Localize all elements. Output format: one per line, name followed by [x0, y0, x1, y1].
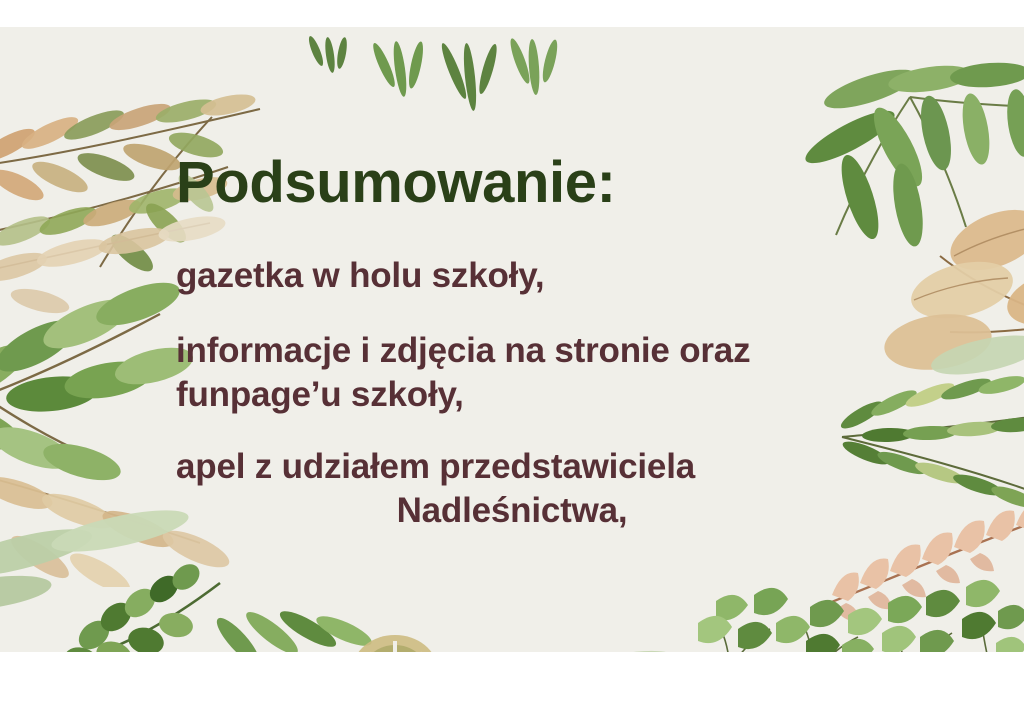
slide-frame: Podsumowanie: gazetka w holu szkoły, inf…: [0, 0, 1024, 724]
summary-item-3-line-2: Nadleśnictwa,: [176, 490, 848, 531]
summary-item-2-line-1: informacje i zdjęcia na stronie oraz: [176, 330, 750, 371]
slide-canvas: Podsumowanie: gazetka w holu szkoły, inf…: [0, 27, 1024, 652]
text-content-block: Podsumowanie: gazetka w holu szkoły, inf…: [0, 27, 1024, 652]
summary-item-2-line-2: funpage’u szkoły,: [176, 374, 464, 415]
summary-item-3-line-1: apel z udziałem przedstawiciela: [176, 446, 695, 487]
page-title: Podsumowanie:: [176, 154, 616, 212]
summary-item-1: gazetka w holu szkoły,: [176, 255, 544, 296]
